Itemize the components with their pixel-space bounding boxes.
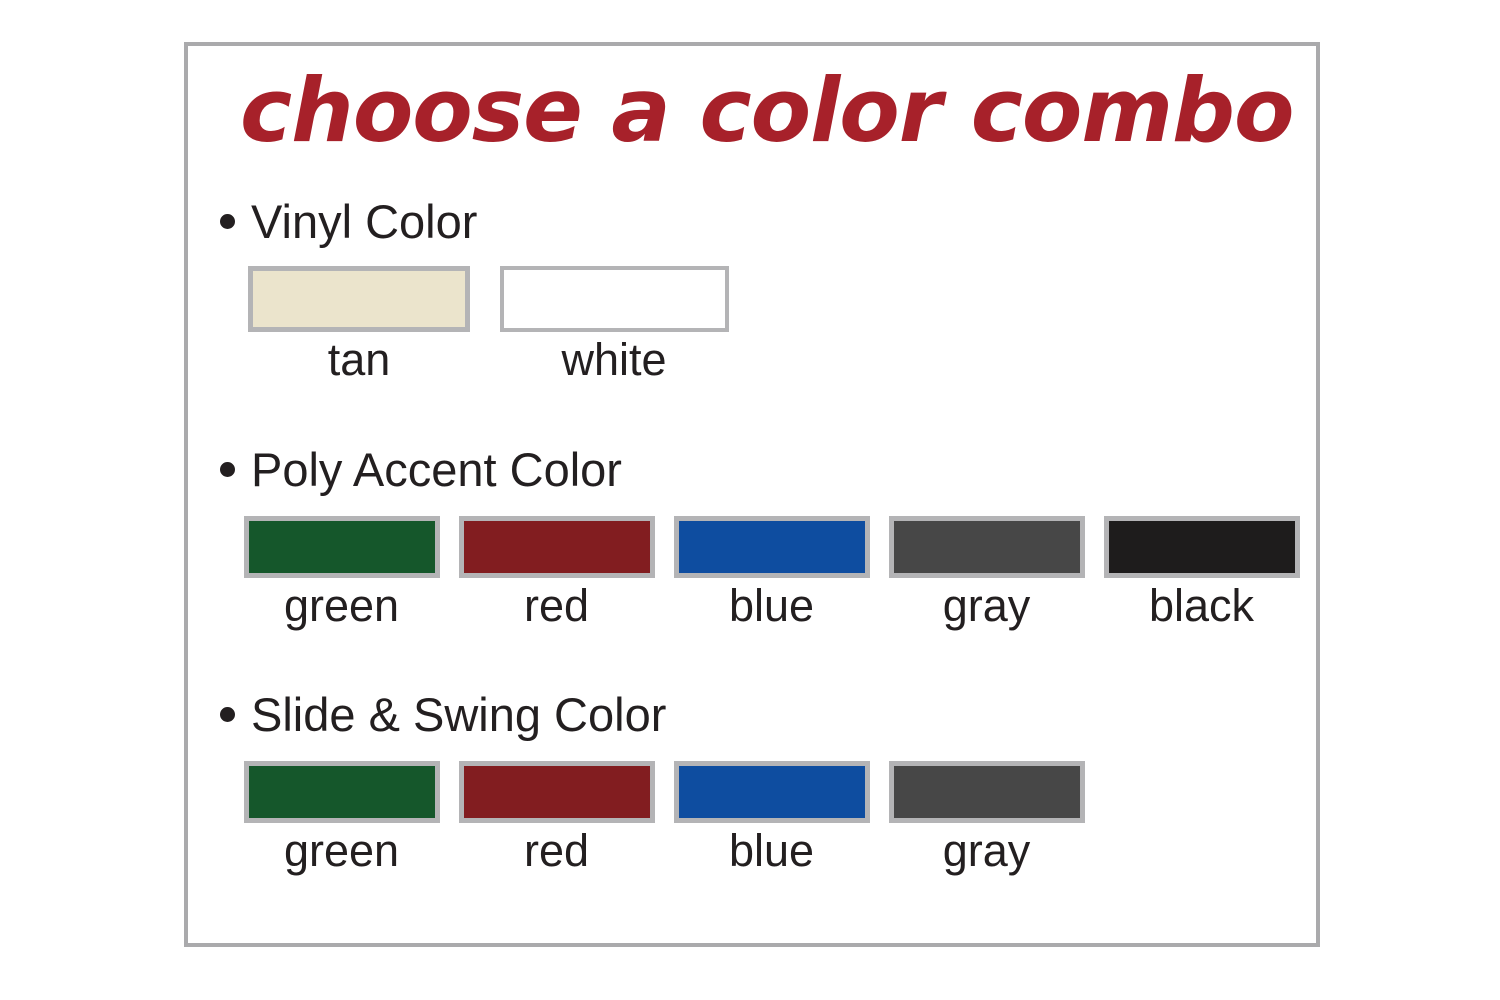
swatch-option-slide-green[interactable]: green [234,761,449,876]
swatch-option-poly-green[interactable]: green [234,516,449,631]
swatch-label-tan: tan [328,336,391,385]
section-vinyl-color: Vinyl Color tan white [216,198,1296,385]
section-header-slide: Slide & Swing Color [216,691,1296,755]
section-slide-swing-color: Slide & Swing Color green red blue [216,691,1296,876]
swatch-row-poly: green red blue gray black [216,516,1296,631]
swatch-chip-slide-red[interactable] [459,761,655,823]
swatch-chip-tan[interactable] [248,266,470,332]
swatch-label-white: white [561,336,666,385]
swatch-chip-poly-blue[interactable] [674,516,870,578]
swatch-option-white[interactable]: white [484,266,744,385]
page-canvas: choose a color combo Vinyl Color tan whi… [0,0,1500,1000]
swatch-label-poly-red: red [524,582,589,631]
swatch-option-poly-gray[interactable]: gray [879,516,1094,631]
section-title-slide: Slide & Swing Color [251,691,666,738]
swatch-label-poly-black: black [1149,582,1254,631]
section-poly-accent-color: Poly Accent Color green red blue gr [216,446,1296,631]
swatch-option-slide-red[interactable]: red [449,761,664,876]
swatch-chip-poly-red[interactable] [459,516,655,578]
swatch-chip-slide-gray[interactable] [889,761,1085,823]
section-title-vinyl: Vinyl Color [251,198,477,245]
bullet-dot-icon [220,462,235,477]
swatch-option-poly-blue[interactable]: blue [664,516,879,631]
section-header-vinyl: Vinyl Color [216,198,1296,262]
swatch-row-vinyl: tan white [216,266,1296,385]
swatch-option-poly-black[interactable]: black [1094,516,1309,631]
color-combo-card: choose a color combo Vinyl Color tan whi… [184,42,1320,947]
swatch-chip-slide-blue[interactable] [674,761,870,823]
swatch-row-slide: green red blue gray [216,761,1296,876]
swatch-label-slide-gray: gray [943,827,1031,876]
page-title: choose a color combo [240,64,1260,157]
swatch-label-slide-green: green [284,827,399,876]
swatch-option-slide-blue[interactable]: blue [664,761,879,876]
swatch-option-tan[interactable]: tan [234,266,484,385]
swatch-chip-white[interactable] [500,266,729,332]
swatch-option-poly-red[interactable]: red [449,516,664,631]
swatch-chip-poly-black[interactable] [1104,516,1300,578]
swatch-option-slide-gray[interactable]: gray [879,761,1094,876]
section-header-poly: Poly Accent Color [216,446,1296,510]
section-title-poly: Poly Accent Color [251,446,622,493]
swatch-label-poly-green: green [284,582,399,631]
swatch-label-poly-blue: blue [729,582,814,631]
swatch-chip-poly-gray[interactable] [889,516,1085,578]
swatch-label-slide-blue: blue [729,827,814,876]
swatch-chip-slide-green[interactable] [244,761,440,823]
bullet-dot-icon [220,707,235,722]
bullet-dot-icon [220,214,235,229]
swatch-label-poly-gray: gray [943,582,1031,631]
swatch-chip-poly-green[interactable] [244,516,440,578]
swatch-label-slide-red: red [524,827,589,876]
